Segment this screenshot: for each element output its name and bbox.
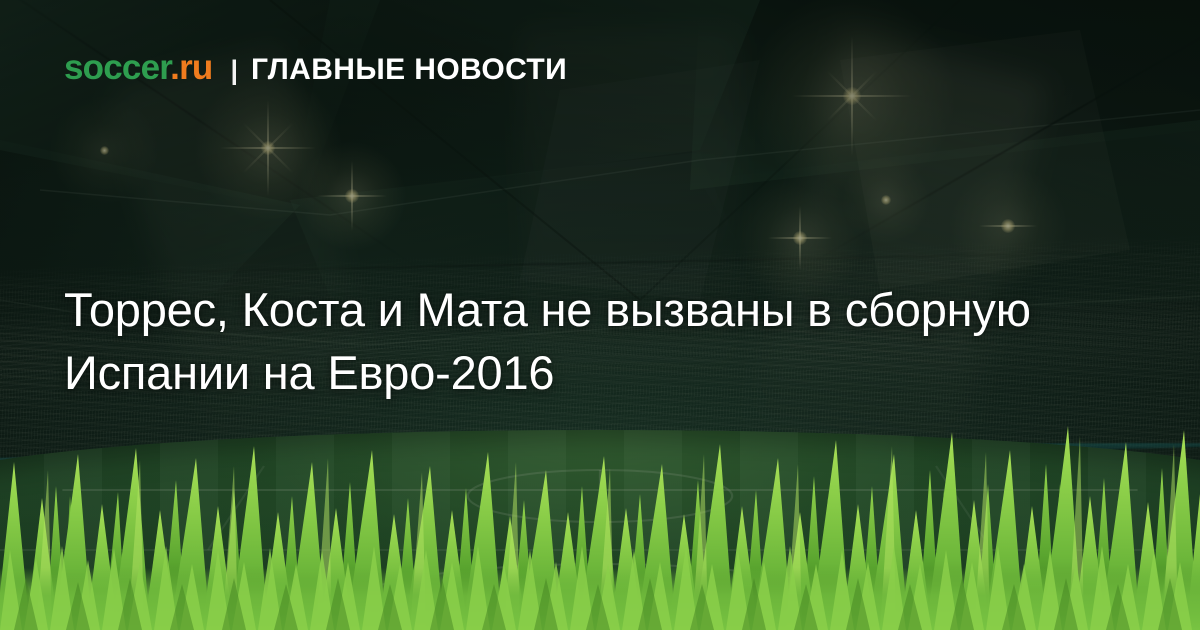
foreground-grass (0, 400, 1200, 630)
header-kicker: ГЛАВНЫЕ НОВОСТИ (251, 55, 567, 85)
soccer-ru-logo[interactable]: soccer.ru (64, 50, 212, 85)
share-card: soccer.ru | ГЛАВНЫЕ НОВОСТИ Торрес, Кост… (0, 0, 1200, 630)
article-headline: Торрес, Коста и Мата не вызваны в сборну… (64, 279, 1094, 403)
logo-tld: .ru (170, 48, 212, 87)
header-separator: | (230, 57, 238, 84)
logo-name: soccer (64, 48, 170, 87)
brand-header: soccer.ru | ГЛАВНЫЕ НОВОСТИ (64, 50, 567, 85)
